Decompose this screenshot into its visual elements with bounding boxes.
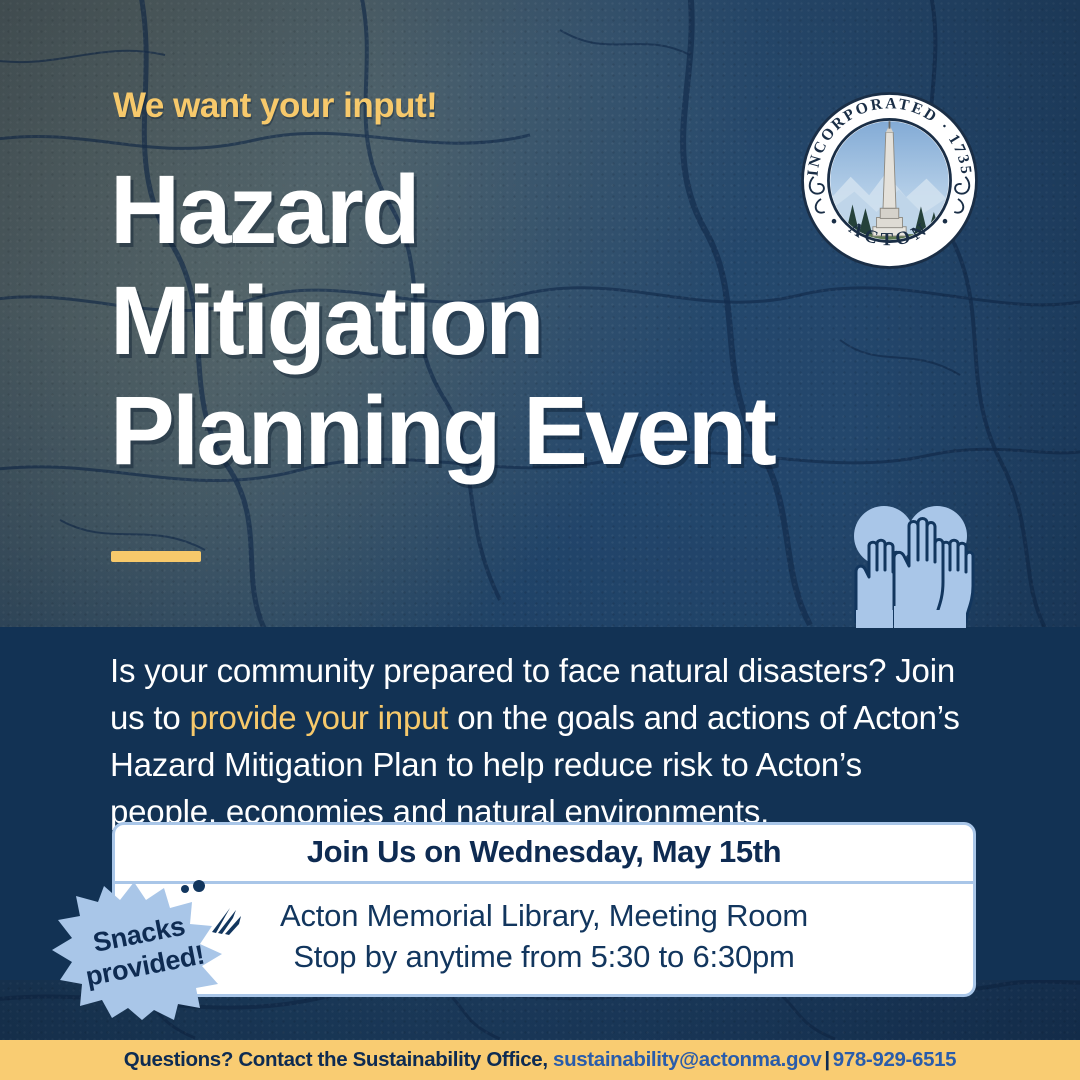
gold-divider bbox=[111, 551, 201, 562]
footer-separator: | bbox=[824, 1048, 829, 1071]
sparkle-dots-icon bbox=[175, 876, 215, 902]
body-paragraph: Is your community prepared to face natur… bbox=[110, 648, 975, 835]
footer-phone-link[interactable]: 978-929-6515 bbox=[833, 1048, 956, 1071]
headline-line-2: Mitigation bbox=[110, 266, 990, 377]
poster: We want your input! Hazard Mitigation Pl… bbox=[0, 0, 1080, 1080]
footer-contact: Questions? Contact the Sustainability Of… bbox=[124, 1048, 956, 1072]
footer-bar: Questions? Contact the Sustainability Of… bbox=[0, 1040, 1080, 1080]
kicker-text: We want your input! bbox=[113, 86, 437, 126]
footer-email-link[interactable]: sustainability@actonma.gov bbox=[553, 1048, 821, 1071]
motion-lines-icon bbox=[208, 902, 242, 936]
raised-hands-icon bbox=[836, 500, 986, 628]
event-location: Acton Memorial Library, Meeting Room bbox=[125, 896, 963, 937]
event-date-heading: Join Us on Wednesday, May 15th bbox=[115, 825, 973, 884]
headline-line-3: Planning Event bbox=[110, 376, 990, 487]
event-time: Stop by anytime from 5:30 to 6:30pm bbox=[125, 937, 963, 978]
event-details: Acton Memorial Library, Meeting Room Sto… bbox=[115, 884, 973, 994]
body-highlight: provide your input bbox=[190, 699, 449, 736]
footer-prefix: Questions? Contact the Sustainability Of… bbox=[124, 1048, 548, 1071]
acton-town-seal-icon: INCORPORATED · 1735 ACTON bbox=[797, 88, 982, 273]
